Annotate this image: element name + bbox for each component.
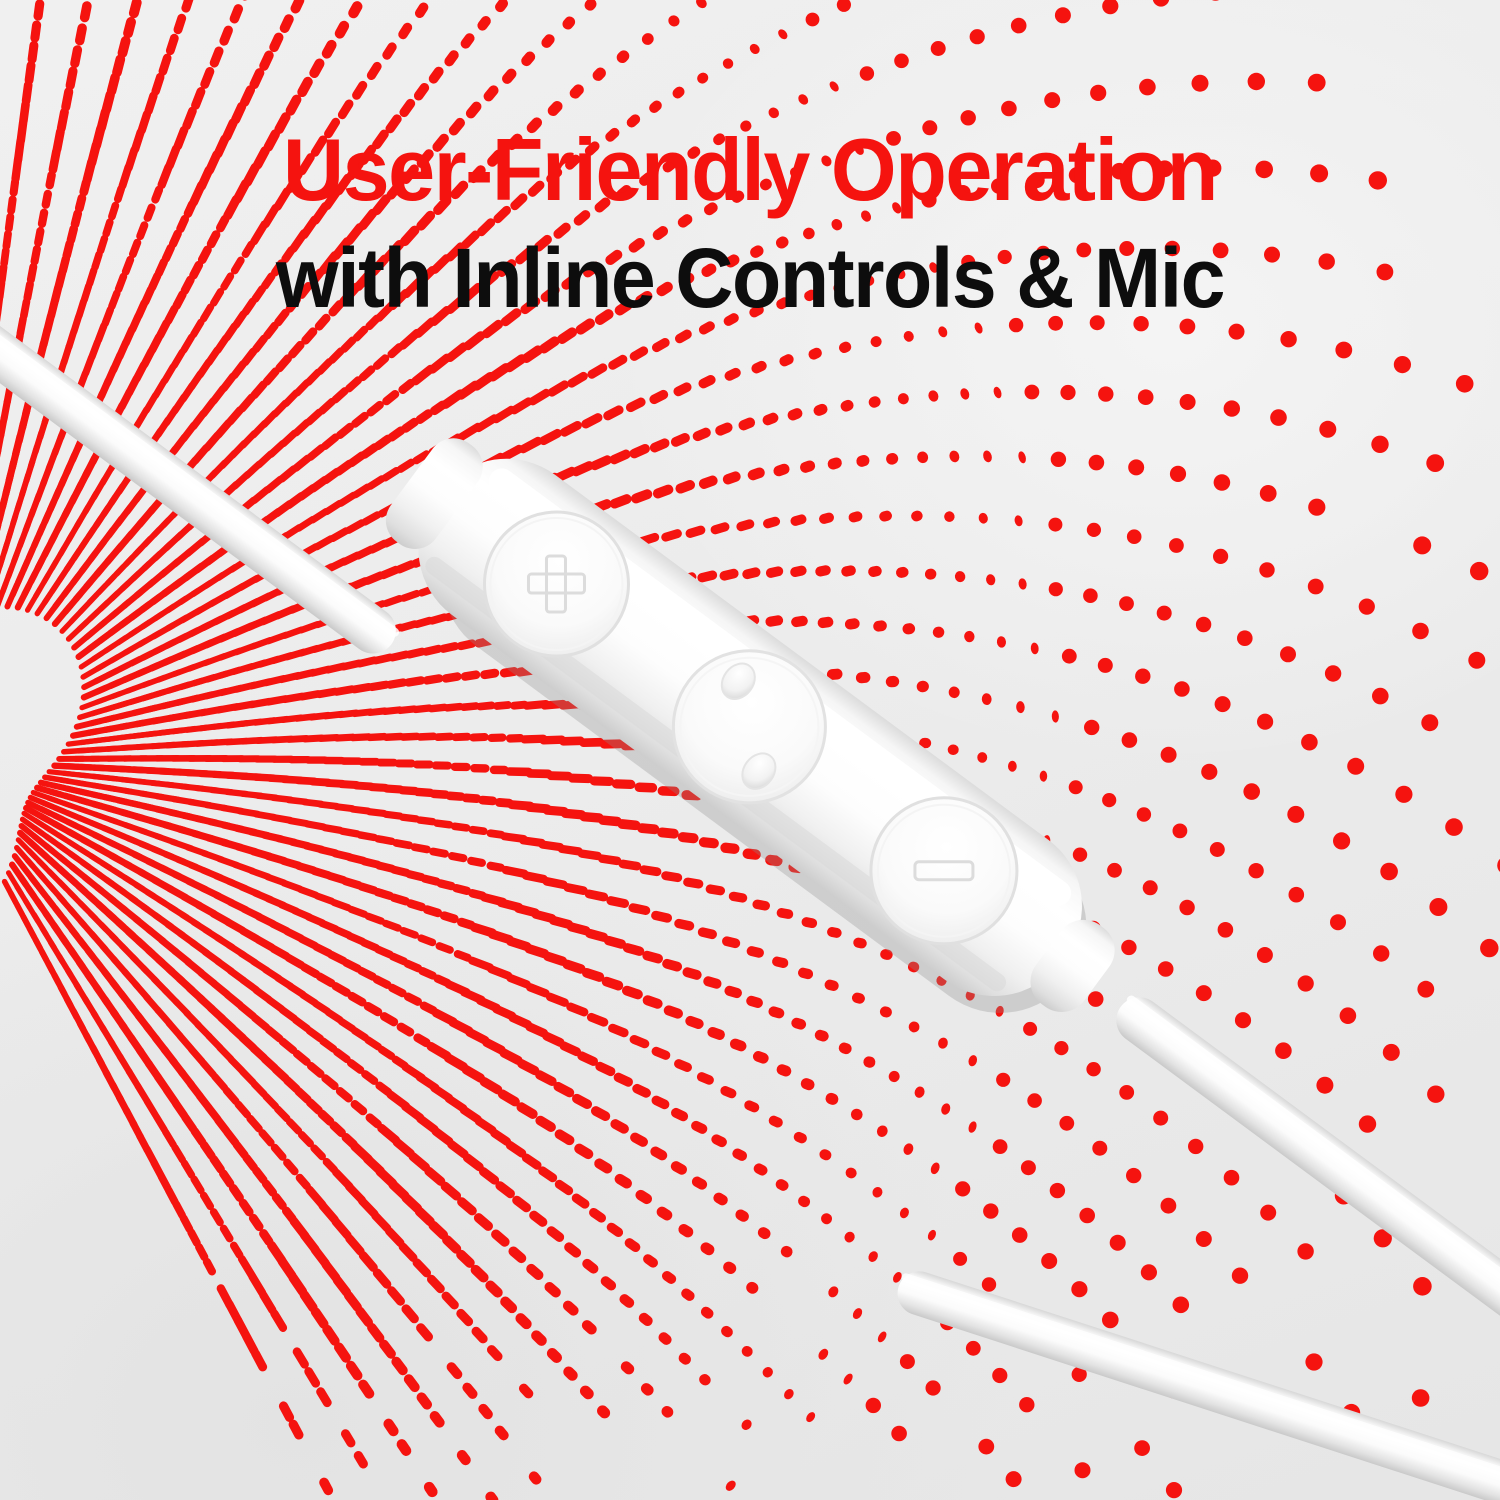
volume-up-button-target[interactable] [428,646,596,814]
play-pause-button-target[interactable] [640,800,816,976]
volume-down-button-target[interactable] [846,930,1016,1100]
product-marketing-image: User-Friendly Operation with Inline Cont… [0,0,1500,1500]
radial-halftone-soundwave-graphic [0,0,1500,1500]
